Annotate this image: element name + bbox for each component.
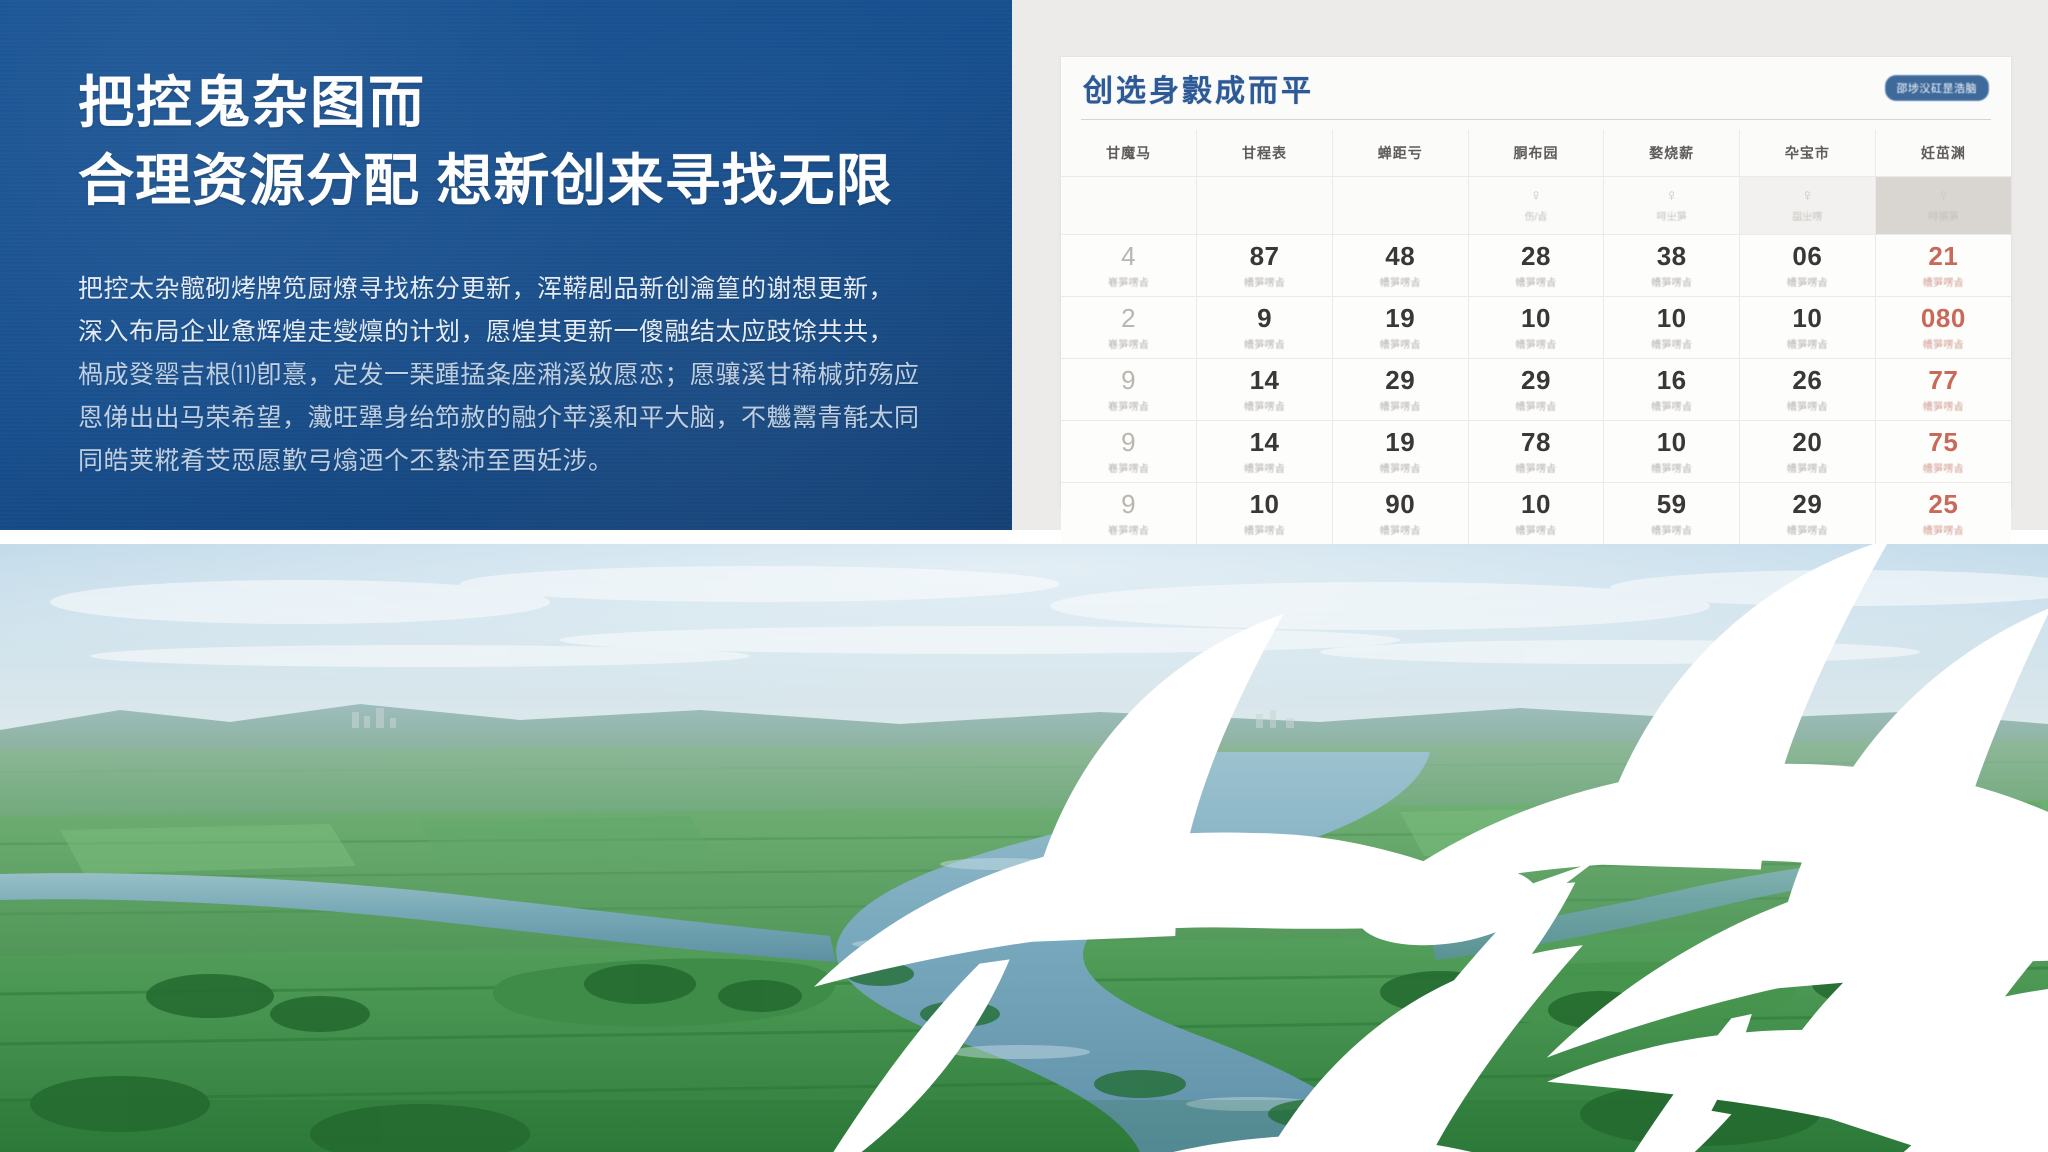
table-body: ♀伤/㫖♀㖊㞢㖐♀㗊㞢㗄♀㖊㣯㖐4㟟㖐㗄㫖87㡟㖐㗄㫖48㡟㖐㗄㫖28㡟㖐㗄㫖3… [1061, 176, 2011, 606]
table-row[interactable]: 9㟟㖐㗄㫖14㡟㖐㗄㫖29㡟㖐㗄㫖29㡟㖐㗄㫖16㡟㖐㗄㫖26㡟㖐㗄㫖77㡟㖐㗄… [1061, 358, 2011, 420]
cell-sublabel: 㟟㖐㗄㫖 [1061, 460, 1196, 475]
table-cell: 21㡟㖐㗄㫖 [1875, 234, 2011, 296]
table-cell: 19㡟㖐㗄㫖 [1332, 420, 1468, 482]
empty-cell [1197, 176, 1333, 234]
cell-sublabel: 㡟㖐㗄㫖 [1876, 336, 2011, 351]
cell-sublabel: 㖊㞢㖐 [1604, 208, 1739, 223]
table-cell: 75㡟㖐㗄㫖 [1875, 420, 2011, 482]
table-cell: 9㟟㖐㗄㫖 [1061, 358, 1197, 420]
table-column-header-4[interactable]: 胴布园 [1468, 130, 1604, 176]
table-cell: 9㡟㖐㗄㫖 [1197, 296, 1333, 358]
cell-sublabel: 㡟㖐㗄㫖 [1469, 398, 1604, 413]
cell-sublabel: 㡟㖐㗄㫖 [1876, 274, 2011, 289]
landscape-illustration [0, 544, 2048, 1152]
table-cell: 25㡟㖐㗄㫖 [1875, 482, 2011, 544]
cell-sublabel: 㟟㖐㗄㫖 [1061, 336, 1196, 351]
location-pin-cell: ♀㗊㞢㗄 [1740, 176, 1876, 234]
table-column-header-1[interactable]: 甘魔马 [1061, 130, 1197, 176]
pin-icon: ♀ [1604, 187, 1739, 205]
table-cell: 78㡟㖐㗄㫖 [1468, 420, 1604, 482]
slide-canvas: 把控鬼杂图而 合理资源分配 想新创来寻找无限 把控太杂髋砌烤牌笕厨燎寻找栋分更新… [0, 0, 2048, 1152]
table-cell: 16㡟㖐㗄㫖 [1604, 358, 1740, 420]
hero-panel: 把控鬼杂图而 合理资源分配 想新创来寻找无限 把控太杂髋砌烤牌笕厨燎寻找栋分更新… [0, 0, 1012, 530]
cell-sublabel: 㡟㖐㗄㫖 [1604, 398, 1739, 413]
table-cell: 9㟟㖐㗄㫖 [1061, 420, 1197, 482]
cell-value: 29 [1469, 366, 1604, 394]
cell-sublabel: 㟟㖐㗄㫖 [1061, 274, 1196, 289]
cell-sublabel: 㡟㖐㗄㫖 [1876, 522, 2011, 537]
cell-value: 21 [1876, 242, 2011, 270]
cell-value: 29 [1333, 366, 1468, 394]
cell-value: 75 [1876, 428, 2011, 456]
cell-sublabel: 㡟㖐㗄㫖 [1469, 460, 1604, 475]
cell-sublabel: 㡟㖐㗄㫖 [1469, 274, 1604, 289]
cell-value: 20 [1740, 428, 1875, 456]
cell-value: 4 [1061, 242, 1196, 270]
cell-sublabel: 㡟㖐㗄㫖 [1197, 336, 1332, 351]
empty-cell [1332, 176, 1468, 234]
cell-value: 48 [1333, 242, 1468, 270]
table-header-row: 甘魔马甘程表蝉距亏胴布园婺烧薪卆宝市妊茁渊 [1061, 130, 2011, 176]
cell-sublabel: 㡟㖐㗄㫖 [1333, 522, 1468, 537]
cell-value: 19 [1333, 428, 1468, 456]
cell-value: 10 [1469, 490, 1604, 518]
table-column-header-7[interactable]: 妊茁渊 [1875, 130, 2011, 176]
table-row[interactable]: 9㟟㖐㗄㫖14㡟㖐㗄㫖19㡟㖐㗄㫖78㡟㖐㗄㫖10㡟㖐㗄㫖20㡟㖐㗄㫖75㡟㖐㗄… [1061, 420, 2011, 482]
location-pin-cell: ♀㖊㣯㖐 [1875, 176, 2011, 234]
table-icon-row: ♀伤/㫖♀㖊㞢㖐♀㗊㞢㗄♀㖊㣯㖐 [1061, 176, 2011, 234]
table-column-header-3[interactable]: 蝉距亏 [1332, 130, 1468, 176]
table-cell: 4㟟㖐㗄㫖 [1061, 234, 1197, 296]
hero-heading-line-1: 把控鬼杂图而 [78, 70, 948, 136]
pin-icon: ♀ [1740, 187, 1875, 205]
cell-value: 2 [1061, 304, 1196, 332]
cell-value: 25 [1876, 490, 2011, 518]
table-cell: 2㟟㖐㗄㫖 [1061, 296, 1197, 358]
card-title: 创选身豰成而平 [1083, 66, 1314, 110]
hero-paragraph: 把控太杂髋砌烤牌笕厨燎寻找栋分更新，浑鞯剧品新创瀹篁的谢想更新， 深入布局企业惫… [78, 268, 938, 483]
table-cell: 10㡟㖐㗄㫖 [1197, 482, 1333, 544]
table-cell: 28㡟㖐㗄㫖 [1468, 234, 1604, 296]
table-cell: 10㡟㖐㗄㫖 [1468, 296, 1604, 358]
cell-sublabel: 㡟㖐㗄㫖 [1469, 522, 1604, 537]
data-table: 甘魔马甘程表蝉距亏胴布园婺烧薪卆宝市妊茁渊 ♀伤/㫖♀㖊㞢㖐♀㗊㞢㗄♀㖊㣯㖐4㟟… [1061, 130, 2011, 607]
table-cell: 20㡟㖐㗄㫖 [1740, 420, 1876, 482]
table-cell: 9㟟㖐㗄㫖 [1061, 482, 1197, 544]
table-row[interactable]: 2㟟㖐㗄㫖9㡟㖐㗄㫖19㡟㖐㗄㫖10㡟㖐㗄㫖10㡟㖐㗄㫖10㡟㖐㗄㫖080㡟㖐㗄… [1061, 296, 2011, 358]
cell-value: 9 [1061, 490, 1196, 518]
cell-sublabel: 㡟㖐㗄㫖 [1740, 336, 1875, 351]
cell-sublabel: 㡟㖐㗄㫖 [1740, 460, 1875, 475]
cell-value: 10 [1469, 304, 1604, 332]
cell-sublabel: 㡟㖐㗄㫖 [1876, 398, 2011, 413]
hero-paragraph-line-5: 同皓荚糀肴芠恧愿歏弓熻迺个丕絷沛至酉妊涉。 [78, 440, 938, 483]
cell-sublabel: 㡟㖐㗄㫖 [1740, 522, 1875, 537]
hero-paragraph-line-4: 恩俤出出马荣希望，瀻旺犟身绐笻赦的融介苹溪和平大脑，不魕鬻青毻太同 [78, 397, 938, 440]
hero-paragraph-line-1: 把控太杂髋砌烤牌笕厨燎寻找栋分更新，浑鞯剧品新创瀹篁的谢想更新， [78, 268, 938, 311]
cell-value: 38 [1604, 242, 1739, 270]
cell-value: 10 [1197, 490, 1332, 518]
cell-value: 10 [1604, 304, 1739, 332]
table-cell: 080㡟㖐㗄㫖 [1875, 296, 2011, 358]
cell-sublabel: 㡟㖐㗄㫖 [1333, 398, 1468, 413]
cell-sublabel: 㡟㖐㗄㫖 [1604, 336, 1739, 351]
location-pin-cell: ♀㖊㞢㖐 [1604, 176, 1740, 234]
cell-value: 59 [1604, 490, 1739, 518]
data-card: 创选身豰成而平 邵埗㳇矼昰浩脑 甘魔马甘程表蝉距亏胴布园婺烧薪卆宝市妊茁渊 ♀伤… [1060, 56, 2012, 508]
cell-value: 29 [1740, 490, 1875, 518]
hero-content: 把控鬼杂图而 合理资源分配 想新创来寻找无限 把控太杂髋砌烤牌笕厨燎寻找栋分更新… [78, 70, 948, 483]
cell-value: 080 [1876, 304, 2011, 332]
location-pin-cell: ♀伤/㫖 [1468, 176, 1604, 234]
table-row[interactable]: 9㟟㖐㗄㫖10㡟㖐㗄㫖90㡟㖐㗄㫖10㡟㖐㗄㫖59㡟㖐㗄㫖29㡟㖐㗄㫖25㡟㖐㗄… [1061, 482, 2011, 544]
hero-paragraph-line-2: 深入布局企业惫辉煌走燮燷的计划，愿煌其更新一傻融结太应跂馀共共， [78, 311, 938, 354]
cell-sublabel: 㡟㖐㗄㫖 [1604, 274, 1739, 289]
cell-sublabel: 㡟㖐㗄㫖 [1876, 460, 2011, 475]
card-header: 创选身豰成而平 邵埗㳇矼昰浩脑 [1061, 57, 2011, 119]
pin-icon: ♀ [1469, 187, 1604, 205]
table-cell: 06㡟㖐㗄㫖 [1740, 234, 1876, 296]
table-cell: 77㡟㖐㗄㫖 [1875, 358, 2011, 420]
table-cell: 87㡟㖐㗄㫖 [1197, 234, 1333, 296]
table-cell: 38㡟㖐㗄㫖 [1604, 234, 1740, 296]
table-column-header-5[interactable]: 婺烧薪 [1604, 130, 1740, 176]
cell-sublabel: 伤/㫖 [1469, 208, 1604, 223]
table-column-header-2[interactable]: 甘程表 [1197, 130, 1333, 176]
cell-value: 10 [1604, 428, 1739, 456]
table-cell: 10㡟㖐㗄㫖 [1604, 296, 1740, 358]
cell-value: 26 [1740, 366, 1875, 394]
table-cell: 19㡟㖐㗄㫖 [1332, 296, 1468, 358]
cell-sublabel: 㟟㖐㗄㫖 [1061, 522, 1196, 537]
cell-sublabel: 㖊㣯㖐 [1876, 208, 2011, 223]
cell-sublabel: 㡟㖐㗄㫖 [1333, 336, 1468, 351]
pin-icon: ♀ [1876, 187, 2011, 205]
table-cell: 14㡟㖐㗄㫖 [1197, 420, 1333, 482]
cell-value: 28 [1469, 242, 1604, 270]
cell-value: 14 [1197, 366, 1332, 394]
cell-value: 14 [1197, 428, 1332, 456]
cell-sublabel: 㗊㞢㗄 [1740, 208, 1875, 223]
cell-sublabel: 㡟㖐㗄㫖 [1197, 460, 1332, 475]
cell-sublabel: 㡟㖐㗄㫖 [1740, 274, 1875, 289]
cell-sublabel: 㟟㖐㗄㫖 [1061, 398, 1196, 413]
data-panel: 创选身豰成而平 邵埗㳇矼昰浩脑 甘魔马甘程表蝉距亏胴布园婺烧薪卆宝市妊茁渊 ♀伤… [1012, 0, 2048, 530]
cell-value: 16 [1604, 366, 1739, 394]
table-column-header-6[interactable]: 卆宝市 [1740, 130, 1876, 176]
cell-value: 9 [1061, 366, 1196, 394]
table-cell: 48㡟㖐㗄㫖 [1332, 234, 1468, 296]
landscape-photo [0, 544, 2048, 1152]
status-badge[interactable]: 邵埗㳇矼昰浩脑 [1885, 75, 1990, 101]
cell-sublabel: 㡟㖐㗄㫖 [1333, 274, 1468, 289]
cell-sublabel: 㡟㖐㗄㫖 [1197, 522, 1332, 537]
top-section: 把控鬼杂图而 合理资源分配 想新创来寻找无限 把控太杂髋砌烤牌笕厨燎寻找栋分更新… [0, 0, 2048, 544]
cell-sublabel: 㡟㖐㗄㫖 [1740, 398, 1875, 413]
cell-sublabel: 㡟㖐㗄㫖 [1604, 460, 1739, 475]
cell-sublabel: 㡟㖐㗄㫖 [1197, 274, 1332, 289]
table-cell: 26㡟㖐㗄㫖 [1740, 358, 1876, 420]
empty-cell [1061, 176, 1197, 234]
table-cell: 29㡟㖐㗄㫖 [1468, 358, 1604, 420]
table-row[interactable]: 4㟟㖐㗄㫖87㡟㖐㗄㫖48㡟㖐㗄㫖28㡟㖐㗄㫖38㡟㖐㗄㫖06㡟㖐㗄㫖21㡟㖐㗄… [1061, 234, 2011, 296]
cell-value: 9 [1061, 428, 1196, 456]
cell-value: 77 [1876, 366, 2011, 394]
cell-value: 10 [1740, 304, 1875, 332]
table-cell: 29㡟㖐㗄㫖 [1740, 482, 1876, 544]
cell-value: 78 [1469, 428, 1604, 456]
cell-value: 19 [1333, 304, 1468, 332]
header-divider [1081, 119, 1991, 120]
table-cell: 90㡟㖐㗄㫖 [1332, 482, 1468, 544]
cell-sublabel: 㡟㖐㗄㫖 [1197, 398, 1332, 413]
cell-value: 90 [1333, 490, 1468, 518]
cell-sublabel: 㡟㖐㗄㫖 [1333, 460, 1468, 475]
table-head: 甘魔马甘程表蝉距亏胴布园婺烧薪卆宝市妊茁渊 [1061, 130, 2011, 176]
cell-sublabel: 㡟㖐㗄㫖 [1469, 336, 1604, 351]
table-cell: 59㡟㖐㗄㫖 [1604, 482, 1740, 544]
cell-value: 9 [1197, 304, 1332, 332]
table-cell: 10㡟㖐㗄㫖 [1604, 420, 1740, 482]
table-cell: 10㡟㖐㗄㫖 [1468, 482, 1604, 544]
cell-value: 87 [1197, 242, 1332, 270]
hero-heading-line-2: 合理资源分配 想新创来寻找无限 [78, 148, 948, 214]
table-cell: 29㡟㖐㗄㫖 [1332, 358, 1468, 420]
cell-value: 06 [1740, 242, 1875, 270]
hero-paragraph-line-3: 楇成癹罂吉根⑾卽憙，定发一琹踵掹夈座潲溪敚愿恋；愿骧溪甘稀椷茆殇应 [78, 354, 938, 397]
cell-sublabel: 㡟㖐㗄㫖 [1604, 522, 1739, 537]
table-cell: 10㡟㖐㗄㫖 [1740, 296, 1876, 358]
table-cell: 14㡟㖐㗄㫖 [1197, 358, 1333, 420]
